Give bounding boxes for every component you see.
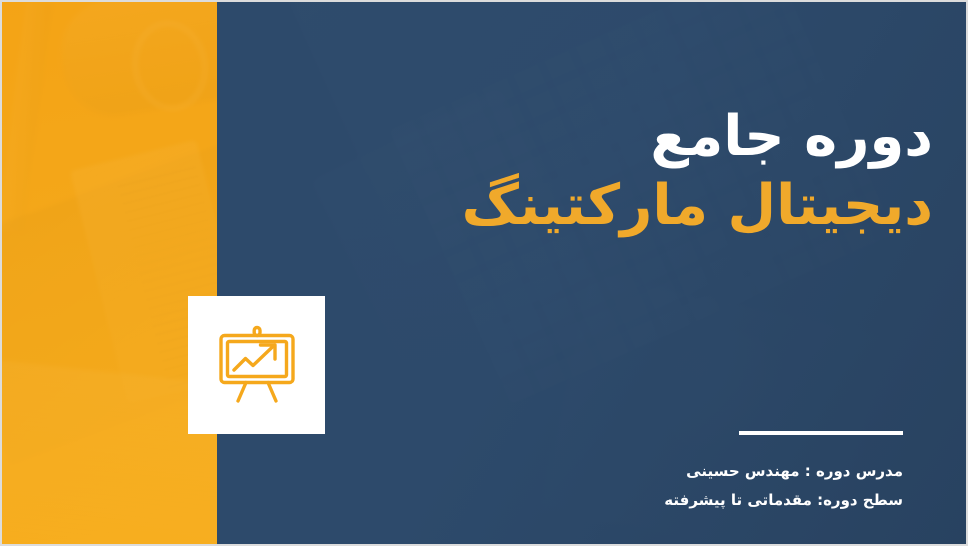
meta-block: مدرس دوره : مهندس حسینی سطح دوره: مقدمات…: [483, 457, 903, 516]
title-line-primary: دوره جامع: [173, 106, 933, 169]
title-slide: دوره جامع دیجیتال مارکتینگ مدرس دوره : م…: [0, 0, 968, 546]
title-line-accent: دیجیتال مارکتینگ: [173, 175, 933, 238]
title-block: دوره جامع دیجیتال مارکتینگ: [173, 106, 933, 237]
divider-rule: [739, 431, 903, 435]
instructor-line: مدرس دوره : مهندس حسینی: [483, 457, 903, 486]
course-level-line: سطح دوره: مقدماتی تا پیشرفته: [483, 486, 903, 515]
left-orange-panel: [2, 2, 217, 544]
orange-color-overlay: [2, 2, 217, 544]
presentation-chart-icon: [212, 322, 302, 408]
icon-card: [188, 296, 325, 434]
